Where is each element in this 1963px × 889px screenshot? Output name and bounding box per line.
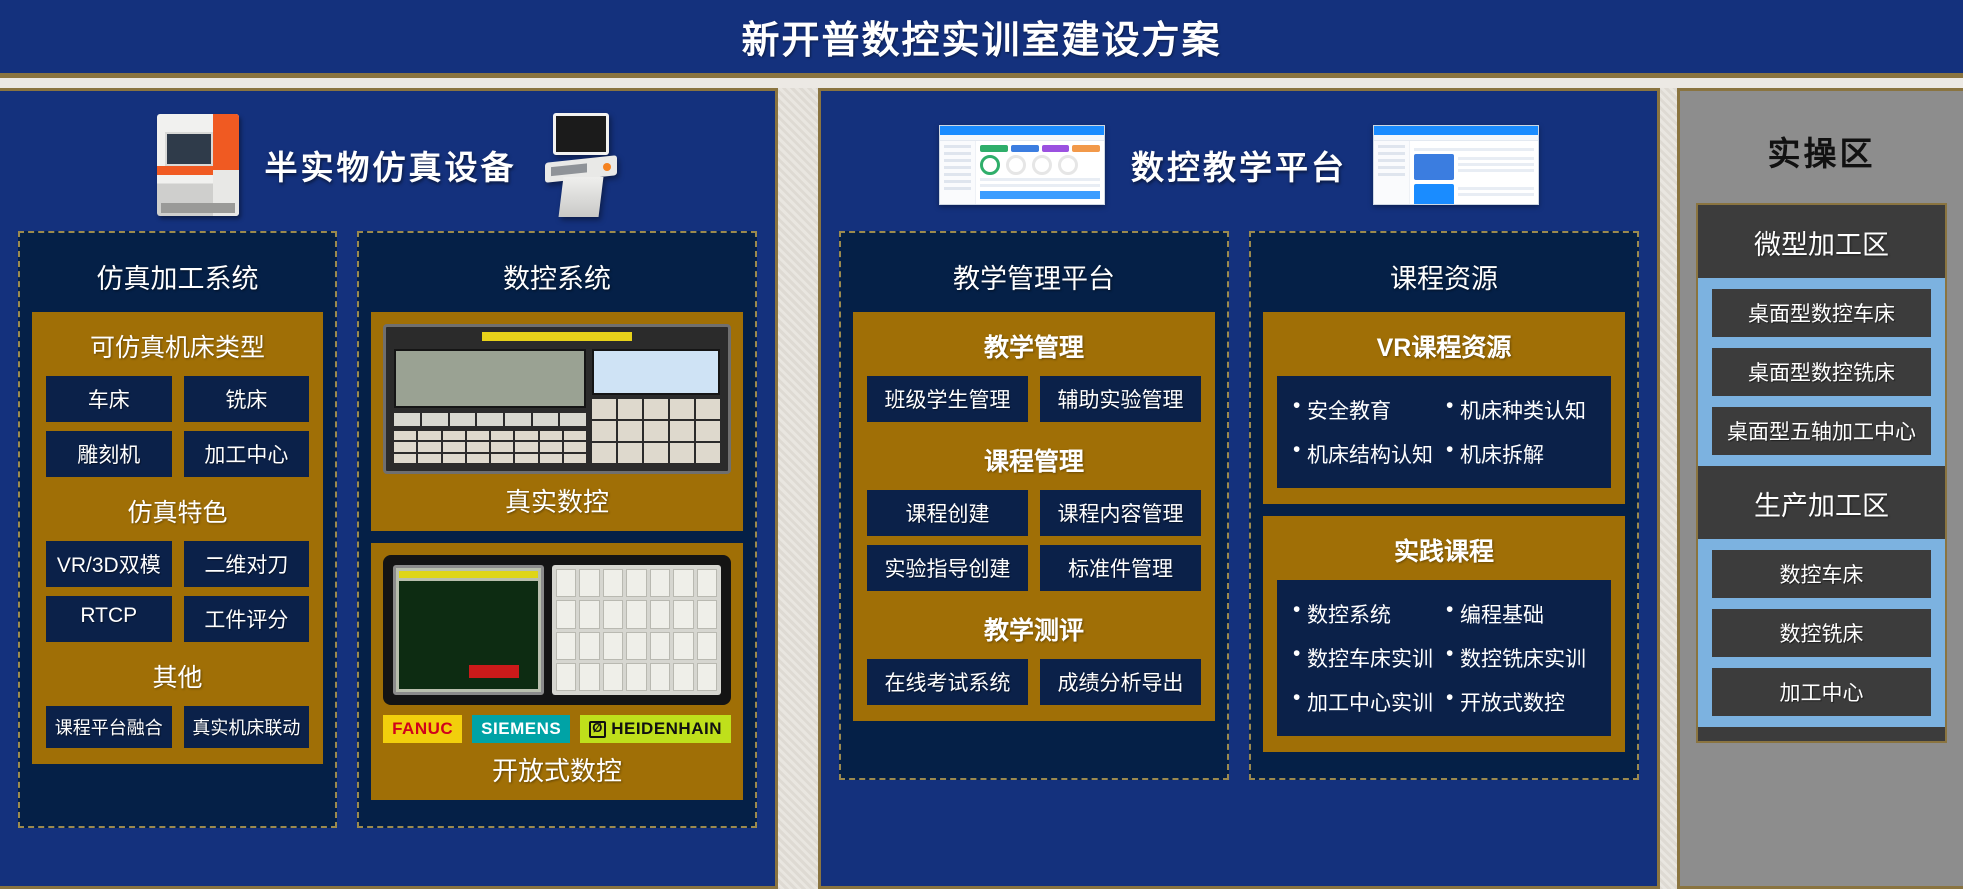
- chip-simulation-feature[interactable]: 工件评分: [184, 596, 310, 642]
- zone-item[interactable]: 加工中心: [1712, 668, 1931, 716]
- group-title: 实践课程: [1277, 528, 1611, 580]
- card-title: 课程资源: [1263, 243, 1625, 312]
- chip-course-management[interactable]: 课程内容管理: [1040, 490, 1201, 536]
- group-title: 仿真特色: [46, 477, 309, 541]
- card-cnc-system: 数控系统 真实数控: [357, 231, 757, 828]
- brand-logo-row: FANUC SIEMENS HEIDENHAIN: [383, 715, 731, 743]
- zone-title: 生产加工区: [1698, 466, 1945, 539]
- siemens-logo: SIEMENS: [472, 715, 570, 743]
- platform-columns: 教学管理平台 教学管理 班级学生管理 辅助实验管理 课程管理 课程创建 课程内容…: [821, 231, 1657, 780]
- list-item[interactable]: 数控系统: [1291, 592, 1444, 636]
- title-bar: 新开普数控实训室建设方案: [0, 0, 1963, 78]
- chip-assessment[interactable]: 在线考试系统: [867, 659, 1028, 705]
- panel-practice-area: 实操区 微型加工区 桌面型数控车床 桌面型数控铣床 桌面型五轴加工中心 生产加工…: [1677, 88, 1963, 889]
- picture-caption: 真实数控: [383, 482, 731, 519]
- group-vr-course-resources: VR课程资源 安全教育 机床种类认知 机床结构认知 机床拆解: [1263, 312, 1625, 504]
- panel-practice-header: 实操区: [1680, 91, 1963, 203]
- zone-item[interactable]: 数控铣床: [1712, 609, 1931, 657]
- diagram-board: 半实物仿真设备 仿真加工系统 可仿真机床类型 车床 铣床 雕刻机 加工中心 仿真…: [0, 88, 1963, 889]
- cnc-controller-icon: [383, 324, 731, 474]
- group-machine-types: 可仿真机床类型 车床 铣床 雕刻机 加工中心 仿真特色 VR/3D双模 二维对刀…: [32, 312, 323, 764]
- practical-course-list-box: 数控系统 编程基础 数控车床实训 数控铣床实训 加工中心实训 开放式数控: [1277, 580, 1611, 736]
- fanuc-logo: FANUC: [383, 715, 462, 743]
- panel-teaching-platform: 数控教学平台: [818, 88, 1660, 889]
- chip-teaching-management[interactable]: 班级学生管理: [867, 376, 1028, 422]
- list-item[interactable]: 数控铣床实训: [1444, 636, 1597, 680]
- chip-course-management[interactable]: 课程创建: [867, 490, 1028, 536]
- group-title: 可仿真机床类型: [46, 324, 309, 376]
- chip-other-feature[interactable]: 课程平台融合: [46, 706, 172, 748]
- list-item[interactable]: 安全教育: [1291, 388, 1444, 432]
- chip-simulation-feature[interactable]: 二维对刀: [184, 541, 310, 587]
- panel-platform-header: 数控教学平台: [821, 91, 1657, 231]
- list-item[interactable]: 机床结构认知: [1291, 432, 1444, 476]
- chip-machine-type[interactable]: 雕刻机: [46, 431, 172, 477]
- chip-machine-type[interactable]: 加工中心: [184, 431, 310, 477]
- group-title: VR课程资源: [1277, 324, 1611, 376]
- panel-simulation-header: 半实物仿真设备: [0, 91, 775, 231]
- zone-item[interactable]: 桌面型数控铣床: [1712, 348, 1931, 396]
- card-course-resources: 课程资源 VR课程资源 安全教育 机床种类认知 机床结构认知 机床拆解 实践课程: [1249, 231, 1639, 780]
- open-cnc-controller-icon: [383, 555, 731, 705]
- list-item[interactable]: 编程基础: [1444, 592, 1597, 636]
- zone-item[interactable]: 桌面型数控车床: [1712, 289, 1931, 337]
- dashboard-screenshot: [939, 125, 1105, 205]
- chip-machine-type[interactable]: 车床: [46, 376, 172, 422]
- panel-platform-title: 数控教学平台: [1131, 141, 1347, 189]
- practice-zones-wrapper: 微型加工区 桌面型数控车床 桌面型数控铣床 桌面型五轴加工中心 生产加工区 数控…: [1696, 203, 1947, 743]
- chip-simulation-feature[interactable]: RTCP: [46, 596, 172, 642]
- zone-production-machining-items: 数控车床 数控铣床 加工中心: [1698, 539, 1945, 727]
- group-practical-courses: 实践课程 数控系统 编程基础 数控车床实训 数控铣床实训 加工中心实训 开放式数…: [1263, 516, 1625, 752]
- heidenhain-label: HEIDENHAIN: [611, 719, 722, 739]
- zone-micro-machining-items: 桌面型数控车床 桌面型数控铣床 桌面型五轴加工中心: [1698, 278, 1945, 466]
- panel-simulation-title: 半实物仿真设备: [265, 141, 517, 189]
- chip-course-management[interactable]: 实验指导创建: [867, 545, 1028, 591]
- vr-course-list-box: 安全教育 机床种类认知 机床结构认知 机床拆解: [1277, 376, 1611, 488]
- group-title: 其他: [46, 642, 309, 706]
- page-title: 新开普数控实训室建设方案: [741, 9, 1221, 64]
- card-teaching-management-platform: 教学管理平台 教学管理 班级学生管理 辅助实验管理 课程管理 课程创建 课程内容…: [839, 231, 1229, 780]
- list-item[interactable]: 开放式数控: [1444, 680, 1597, 724]
- group-title: 教学测评: [867, 591, 1201, 659]
- panel-simulation-equipment: 半实物仿真设备 仿真加工系统 可仿真机床类型 车床 铣床 雕刻机 加工中心 仿真…: [0, 88, 778, 889]
- group-teaching-management: 教学管理 班级学生管理 辅助实验管理 课程管理 课程创建 课程内容管理 实验指导…: [853, 312, 1215, 721]
- heidenhain-mark-icon: [589, 721, 606, 738]
- card-simulation-machining-system: 仿真加工系统 可仿真机床类型 车床 铣床 雕刻机 加工中心 仿真特色 VR/3D…: [18, 231, 337, 828]
- cnc-console-icon: [543, 113, 619, 217]
- card-title: 数控系统: [371, 243, 743, 312]
- group-real-cnc: 真实数控: [371, 312, 743, 531]
- group-open-cnc: FANUC SIEMENS HEIDENHAIN 开放式数控: [371, 543, 743, 800]
- chip-course-management[interactable]: 标准件管理: [1040, 545, 1201, 591]
- list-item[interactable]: 机床种类认知: [1444, 388, 1597, 432]
- chip-assessment[interactable]: 成绩分析导出: [1040, 659, 1201, 705]
- chip-machine-type[interactable]: 铣床: [184, 376, 310, 422]
- card-title: 仿真加工系统: [32, 243, 323, 312]
- list-item[interactable]: 数控车床实训: [1291, 636, 1444, 680]
- zone-item[interactable]: 桌面型五轴加工中心: [1712, 407, 1931, 455]
- chip-simulation-feature[interactable]: VR/3D双模: [46, 541, 172, 587]
- group-title: 教学管理: [867, 324, 1201, 376]
- chip-teaching-management[interactable]: 辅助实验管理: [1040, 376, 1201, 422]
- zone-title: 微型加工区: [1698, 205, 1945, 278]
- group-title: 课程管理: [867, 422, 1201, 490]
- panel-practice-title: 实操区: [1768, 127, 1876, 175]
- picture-caption: 开放式数控: [383, 751, 731, 788]
- heidenhain-logo: HEIDENHAIN: [580, 715, 731, 743]
- simulation-columns: 仿真加工系统 可仿真机床类型 车床 铣床 雕刻机 加工中心 仿真特色 VR/3D…: [0, 231, 775, 828]
- list-item[interactable]: 机床拆解: [1444, 432, 1597, 476]
- chip-other-feature[interactable]: 真实机床联动: [184, 706, 310, 748]
- cnc-machine-icon: [157, 114, 239, 216]
- list-item[interactable]: 加工中心实训: [1291, 680, 1444, 724]
- zone-item[interactable]: 数控车床: [1712, 550, 1931, 598]
- course-screenshot: [1373, 125, 1539, 205]
- card-title: 教学管理平台: [853, 243, 1215, 312]
